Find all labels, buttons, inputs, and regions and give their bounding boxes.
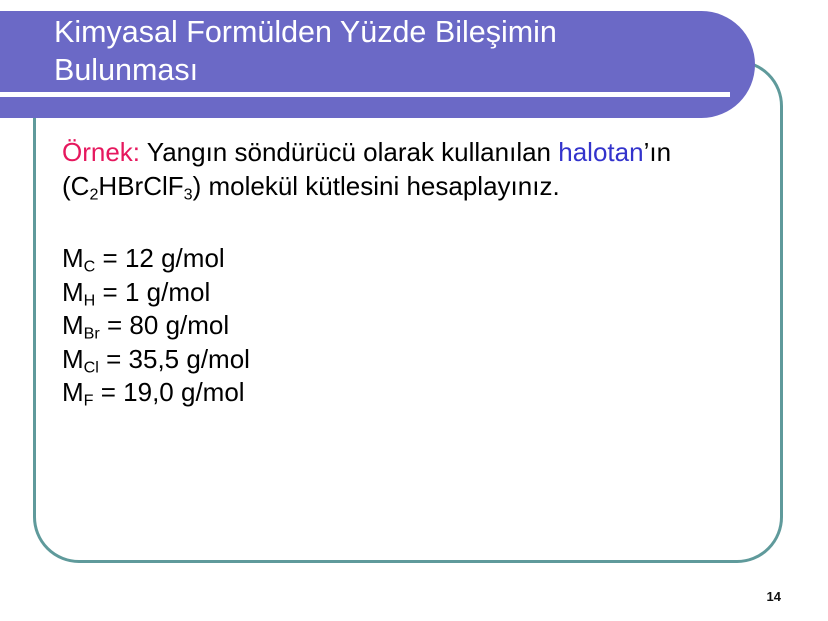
- example-text-before: Yangın söndürücü olarak kullanılan: [140, 137, 558, 167]
- mass-element-subscript: C: [84, 258, 96, 276]
- mass-element-subscript: F: [84, 392, 94, 410]
- mass-symbol: M: [62, 377, 84, 407]
- mass-value: 80 g/mol: [129, 310, 229, 340]
- mass-equals: =: [95, 277, 125, 307]
- formula-subscript-2: 3: [184, 185, 193, 203]
- page-number: 14: [767, 589, 781, 604]
- mass-equals: =: [95, 243, 125, 273]
- example-label: Örnek:: [62, 137, 140, 167]
- mass-value: 35,5 g/mol: [129, 344, 250, 374]
- formula-part-2: HBrClF: [98, 171, 183, 201]
- page-title: Kimyasal Formülden Yüzde Bileşimin Bulun…: [54, 13, 744, 89]
- mass-value: 1 g/mol: [125, 277, 210, 307]
- mass-value: 12 g/mol: [125, 243, 225, 273]
- mass-equals: =: [99, 344, 129, 374]
- mass-element-subscript: Br: [84, 325, 100, 343]
- slide-body: Örnek: Yangın söndürücü olarak kullanıla…: [62, 136, 722, 410]
- mass-element-subscript: H: [84, 291, 96, 309]
- molar-mass-row: MC = 12 g/mol: [62, 242, 722, 276]
- molar-mass-row: MF = 19,0 g/mol: [62, 376, 722, 410]
- slide-canvas: Kimyasal Formülden Yüzde Bileşimin Bulun…: [0, 0, 828, 621]
- mass-equals: =: [100, 310, 130, 340]
- formula-part-1: C: [71, 171, 90, 201]
- mass-equals: =: [94, 377, 124, 407]
- molar-mass-row: MCl = 35,5 g/mol: [62, 343, 722, 377]
- mass-symbol: M: [62, 243, 84, 273]
- molar-mass-row: MBr = 80 g/mol: [62, 309, 722, 343]
- example-text-tail: ) molekül kütlesini hesaplayınız.: [193, 171, 560, 201]
- molar-mass-row: MH = 1 g/mol: [62, 276, 722, 310]
- title-underline-rule: [0, 92, 730, 97]
- mass-symbol: M: [62, 344, 84, 374]
- mass-symbol: M: [62, 310, 84, 340]
- paragraph-spacer: [62, 203, 722, 242]
- compound-name: halotan: [558, 137, 643, 167]
- mass-value: 19,0 g/mol: [123, 377, 244, 407]
- mass-symbol: M: [62, 277, 84, 307]
- example-paragraph: Örnek: Yangın söndürücü olarak kullanıla…: [62, 136, 722, 203]
- chemical-formula: C2HBrClF3: [71, 171, 193, 201]
- mass-element-subscript: Cl: [84, 358, 99, 376]
